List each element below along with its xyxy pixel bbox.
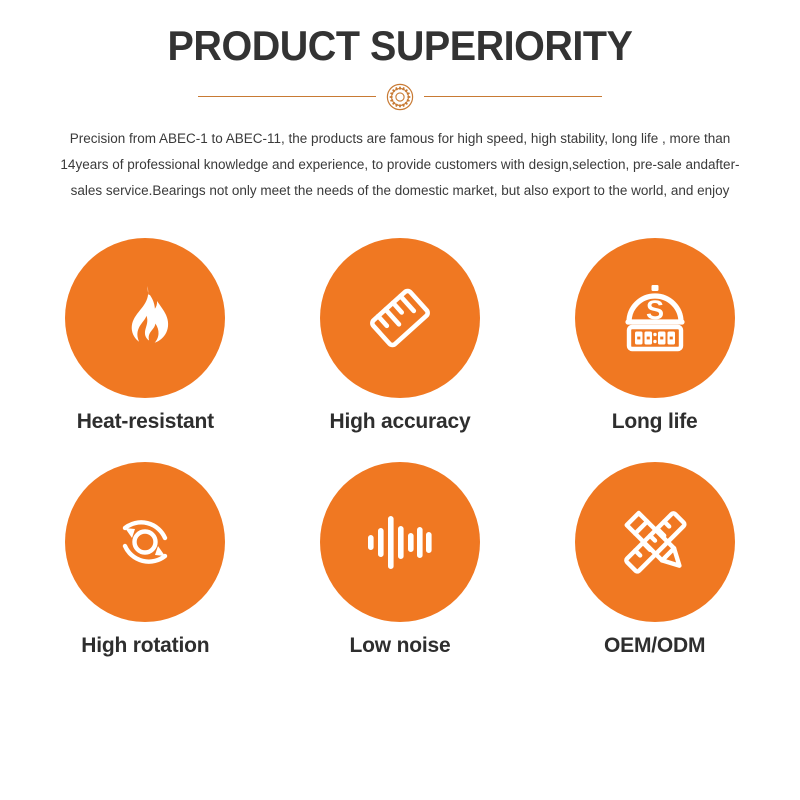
feature-icon-badge <box>320 462 480 622</box>
pencil-ruler-icon <box>611 498 699 586</box>
feature-icon-badge <box>575 462 735 622</box>
feature-item-heat-resistant[interactable]: Heat-resistant <box>36 238 254 434</box>
timer-icon: S <box>612 275 698 361</box>
feature-row: Heat-resistant <box>0 238 800 434</box>
feature-icon-badge <box>320 238 480 398</box>
divider-line-left <box>198 96 376 97</box>
divider-line-right <box>424 96 602 97</box>
intro-paragraph: Precision from ABEC-1 to ABEC-11, the pr… <box>55 126 745 204</box>
feature-label: High accuracy <box>330 410 471 434</box>
feature-item-high-rotation[interactable]: High rotation <box>36 462 254 658</box>
sound-wave-icon <box>360 502 440 582</box>
feature-item-long-life[interactable]: S <box>546 238 764 434</box>
bearing-gear-icon <box>381 78 419 116</box>
feature-label: Low noise <box>350 634 451 658</box>
feature-icon-badge: S <box>575 238 735 398</box>
page-title: PRODUCT SUPERIORITY <box>24 22 776 70</box>
feature-item-low-noise[interactable]: Low noise <box>291 462 509 658</box>
feature-label: Heat-resistant <box>77 410 214 434</box>
feature-item-oem-odm[interactable]: OEM/ODM <box>546 462 764 658</box>
header: PRODUCT SUPERIORITY <box>0 0 800 116</box>
feature-icon-badge <box>65 238 225 398</box>
section-divider <box>198 78 602 116</box>
rotation-arrows-icon <box>101 498 189 586</box>
feature-label: High rotation <box>81 634 209 658</box>
feature-item-high-accuracy[interactable]: High accuracy <box>291 238 509 434</box>
timer-dial-letter: S <box>646 295 664 325</box>
feature-icon-badge <box>65 462 225 622</box>
ruler-icon <box>357 275 443 361</box>
features-grid: Heat-resistant <box>0 238 800 658</box>
feature-label: OEM/ODM <box>604 634 705 658</box>
product-superiority-page: PRODUCT SUPERIORITY <box>0 0 800 800</box>
flame-icon <box>106 279 184 357</box>
feature-label: Long life <box>612 410 698 434</box>
feature-row: High rotation <box>0 462 800 658</box>
